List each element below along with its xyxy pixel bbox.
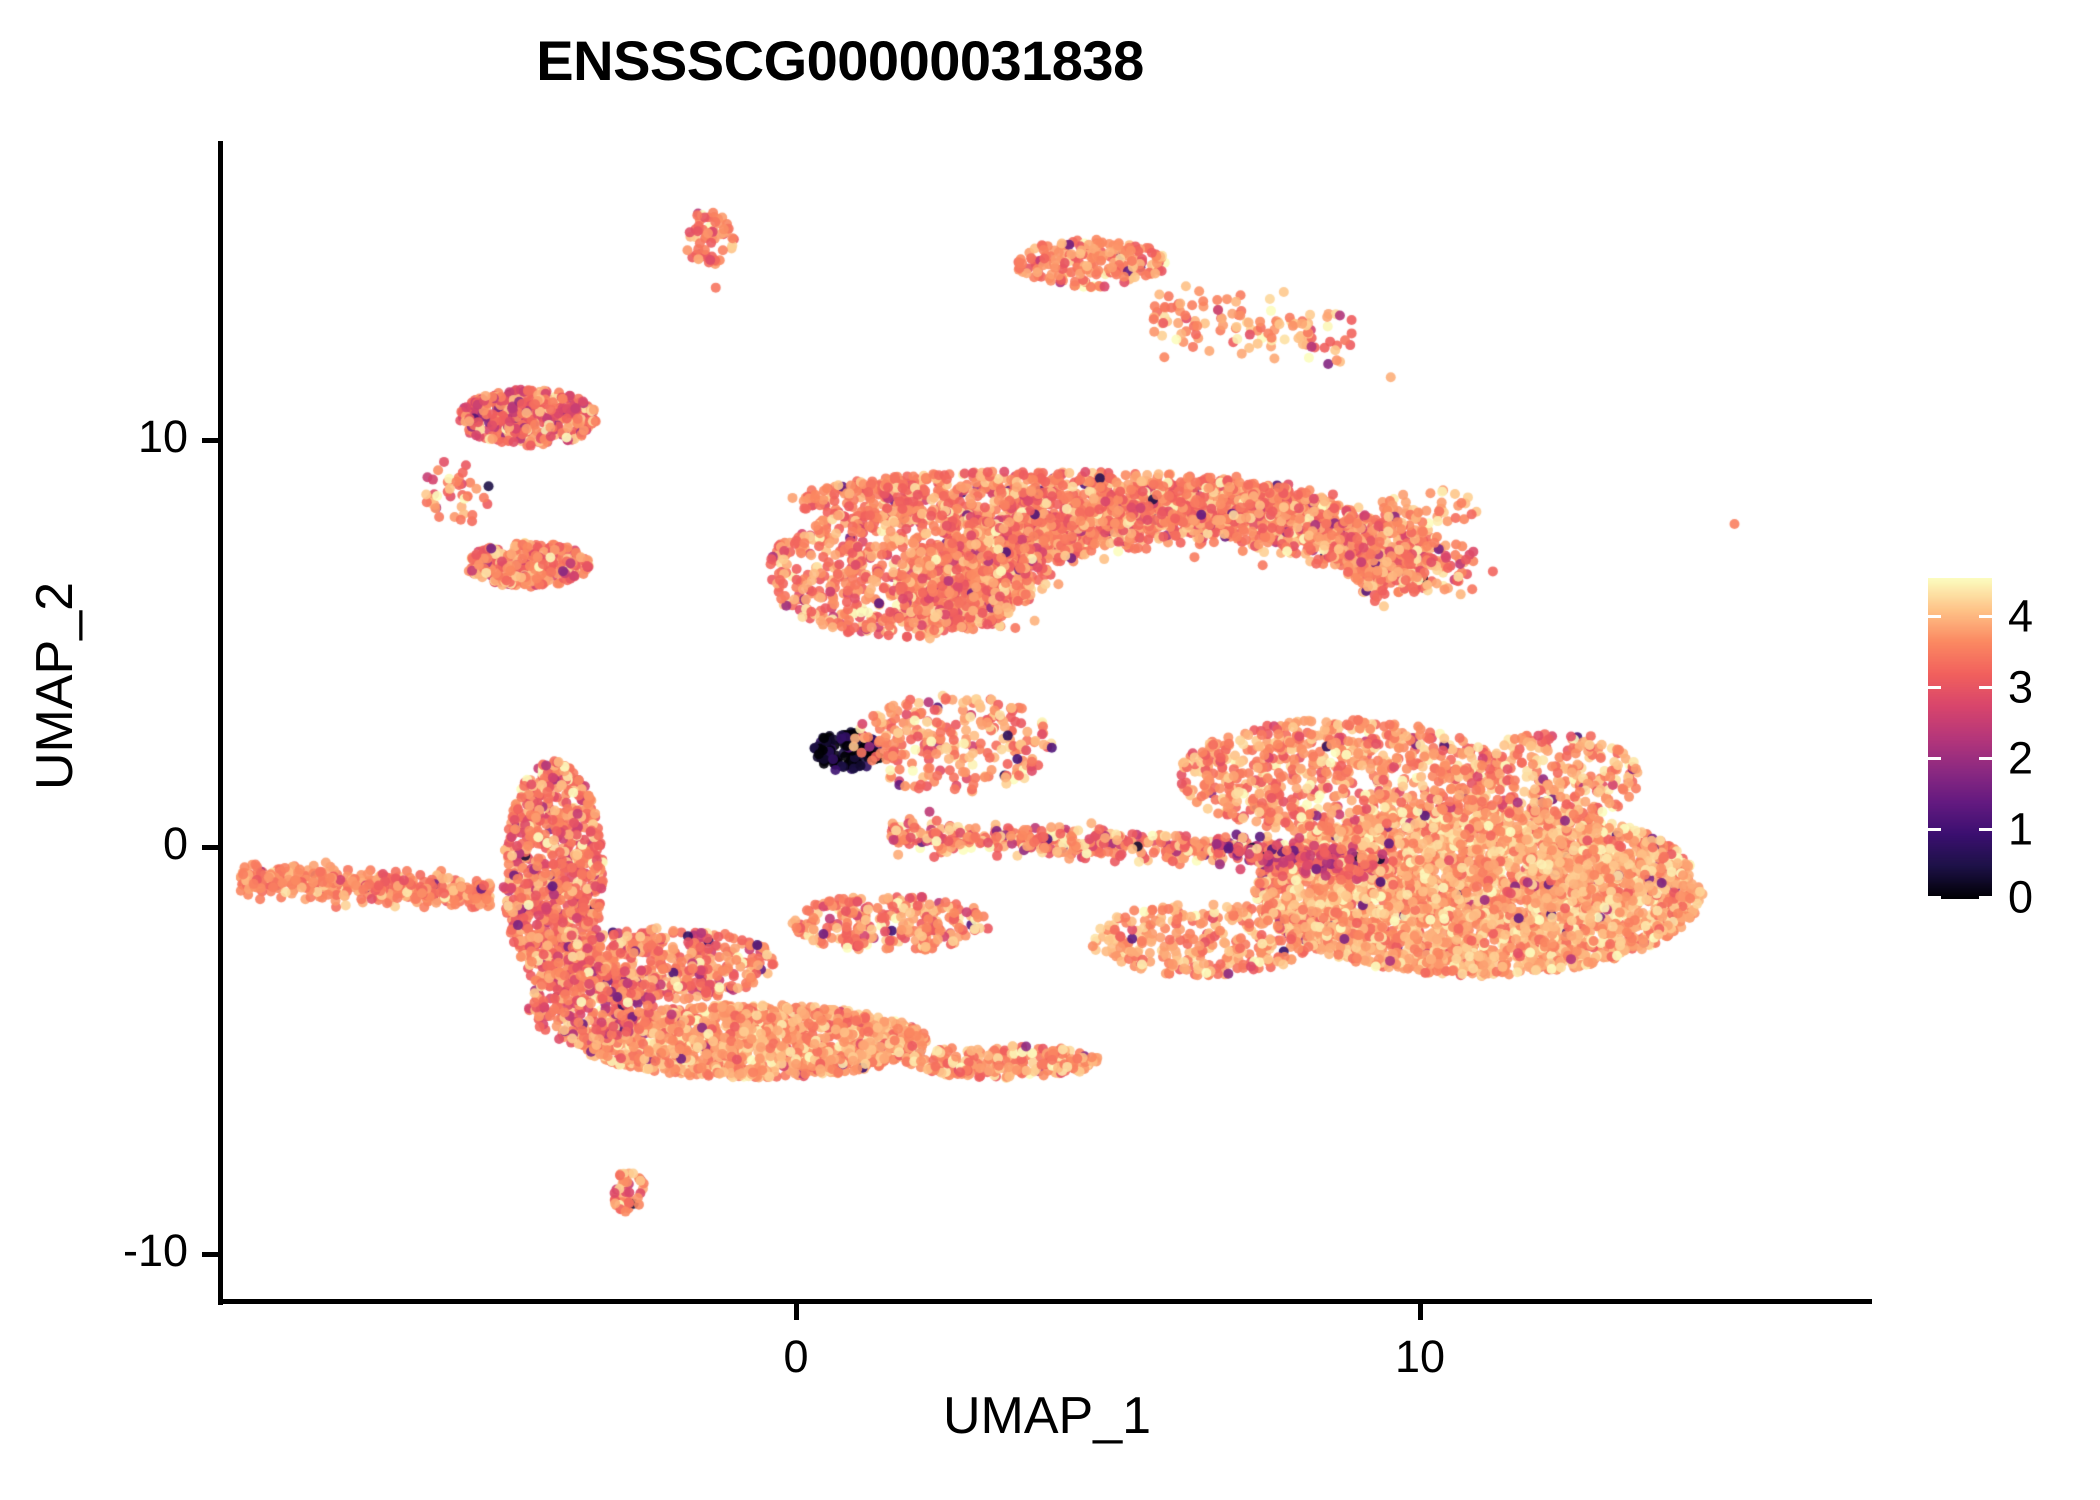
y-tick-label-minus10: -10 (80, 1228, 188, 1273)
y-axis-title: UMAP_2 (29, 436, 81, 936)
x-axis-line (218, 1299, 1872, 1304)
colorbar-label-3: 3 (2008, 665, 2033, 710)
page-title: ENSSSCG00000031838 (0, 28, 1680, 93)
y-tick-mark (202, 1252, 218, 1257)
x-tick-mark (794, 1304, 799, 1320)
umap-feature-plot: ENSSSCG00000031838 10 0 -10 0 10 UMAP_2 … (0, 0, 2100, 1500)
scatter-points-layer (222, 141, 1872, 1302)
y-tick-mark (202, 845, 218, 850)
y-tick-label-10: 10 (106, 414, 188, 459)
x-tick-label-10: 10 (1360, 1334, 1480, 1379)
colorbar-label-0: 0 (2008, 875, 2033, 920)
x-axis-title: UMAP_1 (222, 1390, 1872, 1442)
colorbar-gradient (1928, 578, 1992, 899)
color-legend: 4 3 2 1 0 (1928, 578, 2078, 908)
y-tick-label-0: 0 (106, 821, 188, 866)
colorbar-label-2: 2 (2008, 736, 2033, 781)
x-tick-mark (1418, 1304, 1423, 1320)
y-tick-mark (202, 438, 218, 443)
colorbar-label-1: 1 (2008, 807, 2033, 852)
y-axis-line (218, 141, 223, 1305)
colorbar-label-4: 4 (2008, 594, 2033, 639)
plot-panel (222, 141, 1872, 1302)
x-tick-label-0: 0 (736, 1334, 856, 1379)
